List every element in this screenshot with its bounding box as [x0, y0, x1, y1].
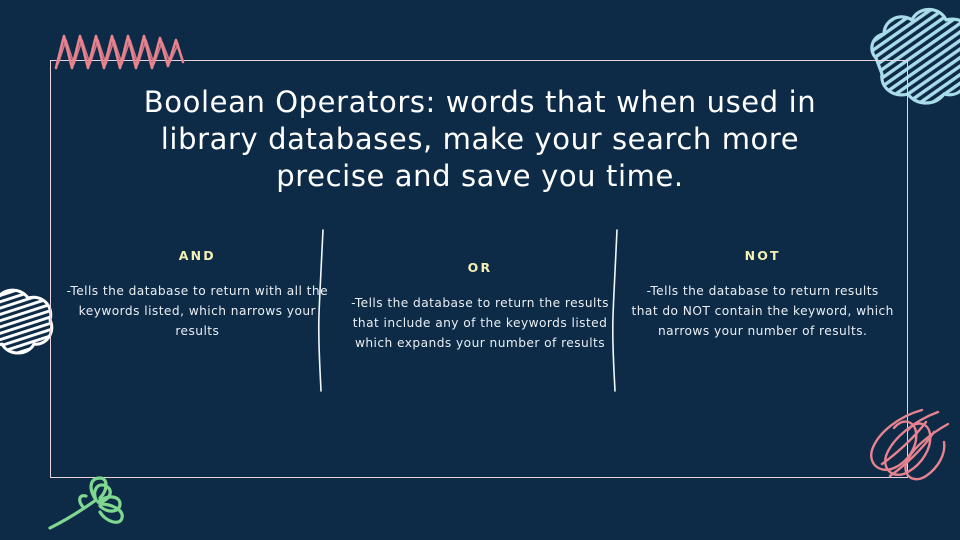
operator-heading-and: AND — [66, 248, 329, 263]
operator-heading-not: NOT — [631, 248, 894, 263]
operator-column-or: OR -Tells the database to return the res… — [339, 228, 622, 353]
page-title: Boolean Operators: words that when used … — [110, 84, 850, 195]
slide: Boolean Operators: words that when used … — [0, 0, 960, 540]
operator-description-or: -Tells the database to return the result… — [349, 293, 612, 353]
operator-column-and: AND -Tells the database to return with a… — [56, 228, 339, 341]
operator-description-and: -Tells the database to return with all t… — [66, 281, 329, 341]
operator-description-not: -Tells the database to return results th… — [631, 281, 894, 341]
operator-column-not: NOT -Tells the database to return result… — [621, 228, 904, 341]
operator-columns: AND -Tells the database to return with a… — [56, 228, 904, 403]
operator-heading-or: OR — [349, 260, 612, 275]
leaf-sprig-bottom-left-icon — [44, 472, 144, 534]
